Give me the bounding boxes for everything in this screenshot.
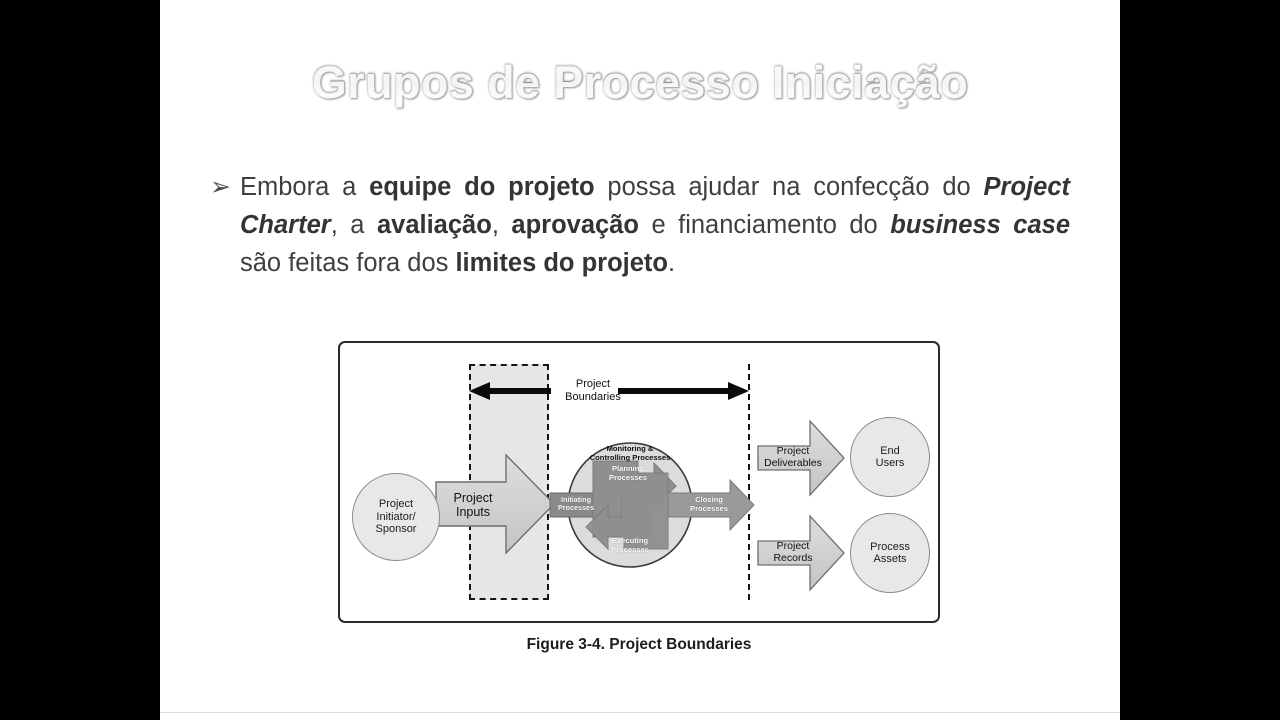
figure-diagram: Project Initiator/ Sponsor End Users Pro…: [338, 341, 940, 623]
paragraph-run-1: equipe do projeto: [369, 173, 594, 201]
paragraph-run-7: aprovação: [511, 211, 639, 239]
paragraph-run-0: Embora a: [240, 173, 369, 201]
process-assets-line1: Process: [870, 541, 910, 553]
screenshot-root: Grupos de Processo Iniciação ➢ Embora a …: [0, 0, 1280, 720]
planning-executing-loop: [586, 461, 676, 549]
initiator-line2: Initiator/: [376, 511, 415, 523]
presentation-slide: Grupos de Processo Iniciação ➢ Embora a …: [160, 0, 1120, 720]
letterbox-bar-left: [0, 0, 160, 720]
paragraph-run-9: business case: [890, 211, 1070, 239]
node-end-users: End Users: [850, 417, 930, 497]
bullet-arrow-icon: ➢: [210, 168, 240, 206]
process-assets-line2: Assets: [873, 553, 906, 565]
paragraph-run-2: possa ajudar na confecção do: [595, 173, 984, 201]
bullet-paragraph: ➢ Embora a equipe do projeto possa ajuda…: [210, 168, 1070, 282]
figure-caption: Figure 3-4. Project Boundaries: [338, 636, 940, 654]
paragraph-run-8: e financiamento do: [639, 211, 890, 239]
paragraph-run-10: são feitas fora dos: [240, 249, 455, 277]
diagram-shapes: [338, 341, 940, 623]
paragraph-run-6: ,: [492, 211, 512, 239]
project-boundaries-figure: Project Initiator/ Sponsor End Users Pro…: [338, 341, 940, 623]
paragraph-run-4: , a: [331, 211, 377, 239]
end-users-line1: End: [880, 445, 900, 457]
bullet-text: Embora a equipe do projeto possa ajudar …: [240, 168, 1070, 282]
node-process-assets: Process Assets: [850, 513, 930, 593]
bottom-rule: [160, 712, 1120, 713]
project-inputs-arrow: [436, 455, 554, 553]
paragraph-run-5: avaliação: [377, 211, 492, 239]
paragraph-run-11: limites do projeto: [455, 249, 668, 277]
node-project-initiator-sponsor: Project Initiator/ Sponsor: [352, 473, 440, 561]
project-records-arrow: [758, 516, 844, 590]
page-title: Grupos de Processo Iniciação: [160, 56, 1120, 108]
paragraph-run-12: .: [668, 249, 675, 277]
letterbox-bar-right: [1120, 0, 1280, 720]
project-boundaries-double-arrow: [469, 382, 749, 400]
end-users-line2: Users: [876, 457, 905, 469]
initiator-line1: Project: [379, 498, 413, 510]
initiator-line3: Sponsor: [376, 523, 417, 535]
project-deliverables-arrow: [758, 421, 844, 495]
